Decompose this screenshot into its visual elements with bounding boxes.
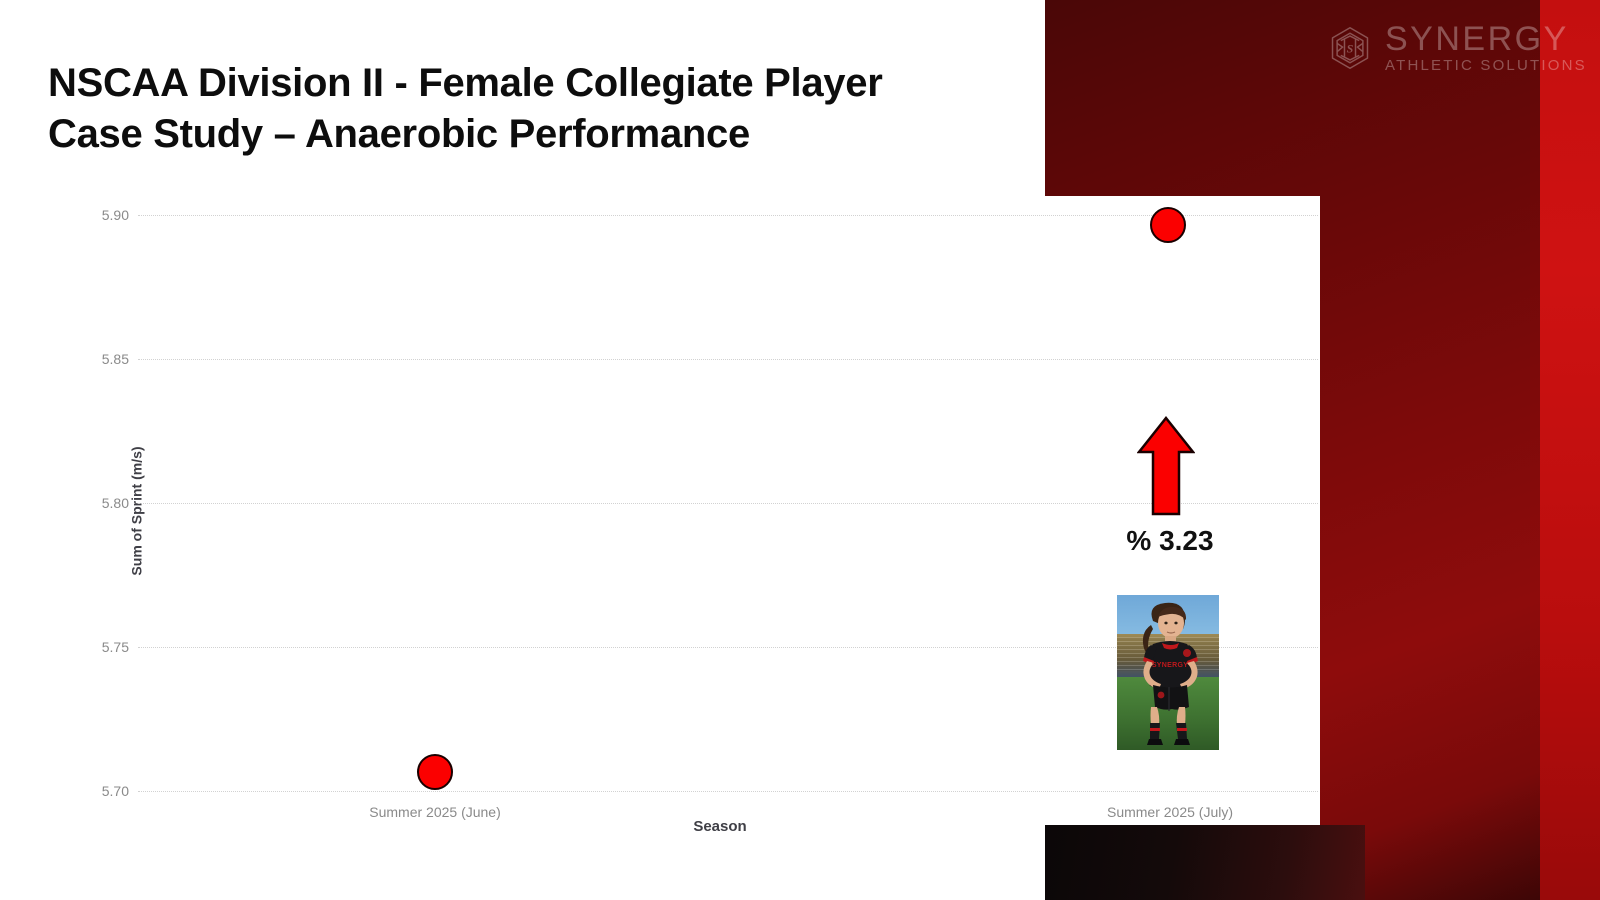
brand-logo-text: SYNERGY ATHLETIC SOLUTIONS [1385, 22, 1587, 73]
svg-text:S: S [1347, 41, 1354, 55]
brand-logo: S SYNERGY ATHLETIC SOLUTIONS [1327, 22, 1587, 73]
y-tick-label: 5.80 [69, 495, 129, 511]
percent-change-label: % 3.23 [1060, 525, 1280, 557]
y-tick-label: 5.85 [69, 351, 129, 367]
slide-canvas: S SYNERGY ATHLETIC SOLUTIONS NSCAA Divis… [0, 0, 1600, 900]
background-red-accent-strip [1540, 0, 1600, 900]
photo-player-figure: SYNERGY [1117, 595, 1219, 750]
x-axis-title: Season [60, 818, 1380, 835]
growth-arrow-up-icon [1137, 416, 1195, 516]
player-photo: SYNERGY [1117, 595, 1219, 750]
brand-name: SYNERGY [1385, 22, 1587, 56]
page-title: NSCAA Division II - Female Collegiate Pl… [48, 58, 948, 160]
data-point-june[interactable] [417, 754, 453, 790]
gridline [138, 359, 1318, 360]
synergy-hexagon-icon: S [1327, 25, 1373, 71]
brand-tagline: ATHLETIC SOLUTIONS [1385, 58, 1587, 73]
y-tick-label: 5.90 [69, 207, 129, 223]
y-tick-label: 5.70 [69, 783, 129, 799]
gridline [138, 215, 1318, 216]
gridline [138, 791, 1318, 792]
data-point-july[interactable] [1150, 207, 1186, 243]
svg-text:SYNERGY: SYNERGY [1152, 662, 1188, 669]
background-dark-corner [1045, 825, 1365, 900]
y-tick-label: 5.75 [69, 639, 129, 655]
